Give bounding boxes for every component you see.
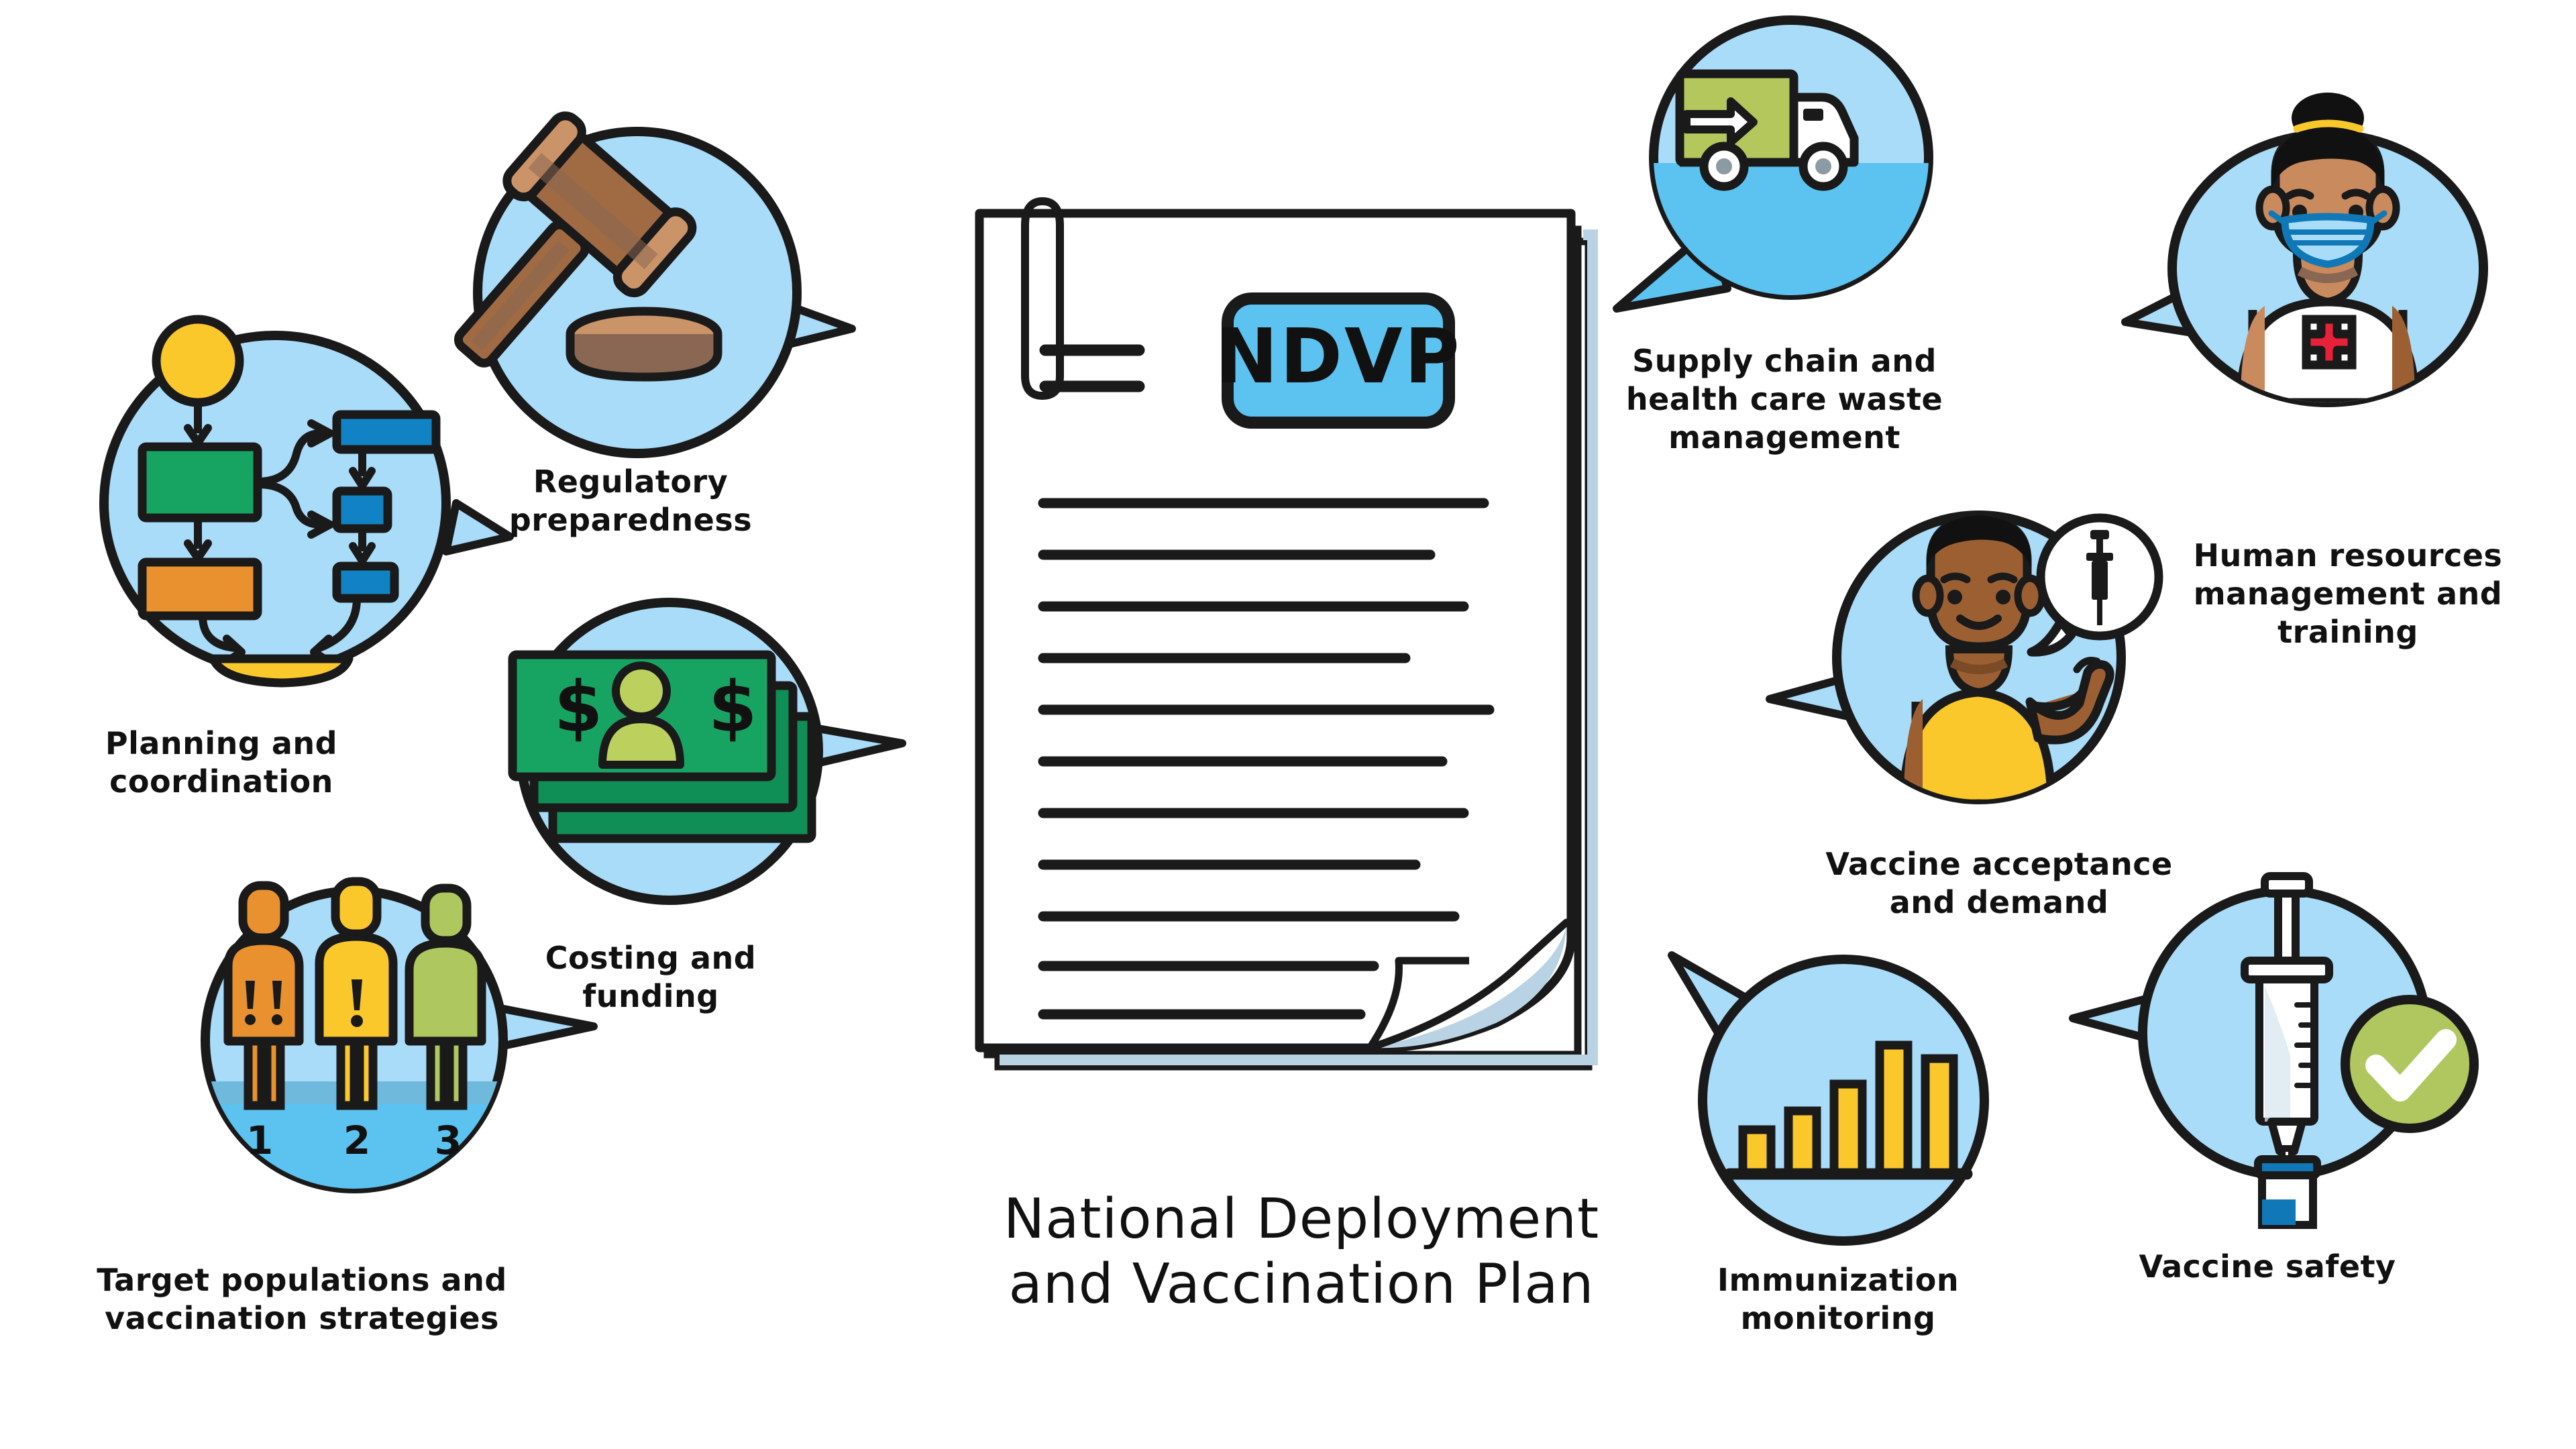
check-circle (2345, 1000, 2474, 1128)
caption-planning-and-coordination: Planning and coordination (54, 724, 389, 801)
topic-regulatory-preparedness[interactable] (443, 101, 865, 463)
speech-bubble-syringe (2031, 518, 2159, 652)
topic-target-populations[interactable]: 1 2 3 (161, 865, 604, 1214)
caption-target-populations: Target populations and vaccination strat… (74, 1261, 530, 1338)
sound-block (570, 311, 718, 377)
caption-human-resources: Human resources management and training (2167, 537, 2529, 651)
rank-label-3: 3 (435, 1118, 462, 1163)
caption-immunization-monitoring: Immunization monitoring (1664, 1261, 2012, 1338)
topic-immunization-monitoring[interactable] (1664, 946, 2012, 1254)
truck-window (1803, 109, 1823, 121)
page-title: National Deploymentand Vaccination Plan (926, 1187, 1677, 1318)
caption-supply-chain: Supply chain and health care waste manag… (1610, 342, 1959, 457)
infographic-canvas: NDVP National Deploymen (0, 0, 2576, 1449)
topic-human-resources[interactable] (2133, 101, 2509, 449)
dollar-sign-left: $ (554, 666, 602, 748)
vial-liquid (2262, 1199, 2296, 1225)
caption-regulatory-preparedness: Regulatory preparedness (470, 463, 792, 539)
caption-vaccine-safety: Vaccine safety (2106, 1248, 2428, 1286)
hair-bun (2292, 93, 2364, 144)
ndvp-badge: NDVP (1215, 299, 1461, 423)
topic-supply-chain[interactable] (1610, 7, 1959, 356)
ndvp-badge-label: NDVP (1215, 313, 1461, 400)
rank-label-2: 2 (343, 1118, 370, 1163)
dollar-sign-right: $ (708, 666, 757, 748)
ndvp-document: NDVP (959, 195, 1644, 1154)
rank-label-1: 1 (246, 1118, 273, 1163)
topic-vaccine-acceptance[interactable] (1784, 490, 2200, 839)
banknotes-icon: $ $ (513, 655, 812, 839)
topic-vaccine-safety[interactable] (2066, 839, 2482, 1214)
